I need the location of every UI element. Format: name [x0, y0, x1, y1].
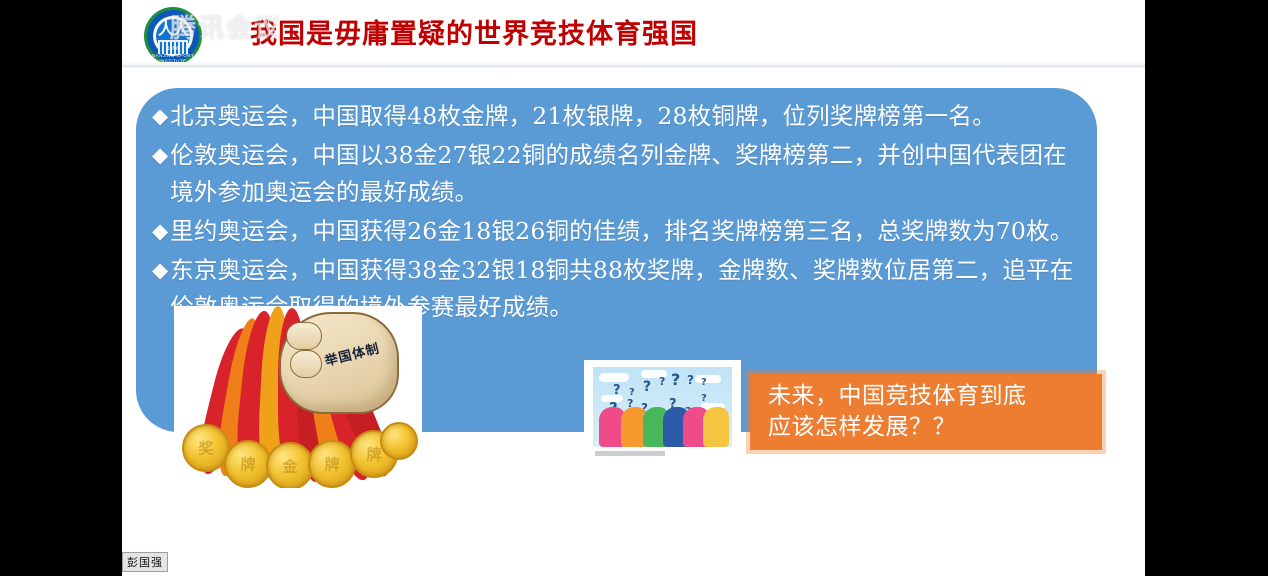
gold-medal — [380, 422, 418, 460]
question-mark-icon: ? — [659, 375, 665, 388]
knuckle — [286, 322, 322, 350]
question-mark-icon: ? — [643, 379, 651, 395]
diamond-bullet-icon: ◆ — [152, 213, 168, 250]
knuckle — [290, 350, 322, 378]
callout-line-2: 应该怎样发展？？ — [768, 412, 1092, 443]
question-mark-icon: ? — [687, 373, 694, 387]
list-item-text: 北京奥运会，中国取得48枚金牌，21枚银牌，28枚铜牌，位列奖牌榜第一名。 — [170, 98, 1085, 135]
nanjing-sport-institute-logo-icon: 人人 1956 NANJING SPORT INSTITUTE — [144, 7, 202, 65]
question-mark-icon: ? — [701, 377, 707, 388]
head-silhouette — [703, 407, 729, 447]
screen: 人人 1956 NANJING SPORT INSTITUTE 我国是毋庸置疑的… — [0, 0, 1268, 576]
logo-mark: 人人 — [158, 23, 188, 38]
gold-medal: 牌 — [308, 440, 356, 488]
question-callout: 未来，中国竞技体育到底 应该怎样发展？？ — [750, 374, 1102, 450]
list-item-text: 里约奥运会，中国获得26金18银26铜的佳绩，排名奖牌榜第三名，总奖牌数为70枚… — [170, 213, 1085, 250]
gold-medal: 金 — [266, 442, 314, 488]
diamond-bullet-icon: ◆ — [152, 98, 168, 135]
gold-medal: 牌 — [224, 440, 272, 488]
olympic-results-list: ◆ 北京奥运会，中国取得48枚金牌，21枚银牌，28枚铜牌，位列奖牌榜第一名。 … — [152, 98, 1085, 328]
logo-year: 1956 — [144, 46, 202, 52]
thinking-heads-image: ? ? ? ? ? ? ? ? ? ? ? ? ? ? — [584, 360, 741, 460]
author-name-tag: 彭国强 — [122, 552, 168, 572]
gold-medal: 奖 — [182, 424, 230, 472]
image-caption-bar — [595, 451, 665, 456]
presentation-slide: 人人 1956 NANJING SPORT INSTITUTE 我国是毋庸置疑的… — [122, 0, 1145, 576]
list-item: ◆ 伦敦奥运会，中国以38金27银22铜的成绩名列金牌、奖牌榜第二，并创中国代表… — [152, 137, 1085, 211]
letterbox-bar-right — [1145, 0, 1268, 576]
list-item-text: 伦敦奥运会，中国以38金27银22铜的成绩名列金牌、奖牌榜第二，并创中国代表团在… — [170, 137, 1085, 211]
list-item: ◆ 北京奥运会，中国取得48枚金牌，21枚银牌，28枚铜牌，位列奖牌榜第一名。 — [152, 98, 1085, 135]
header-divider — [122, 62, 1145, 68]
diamond-bullet-icon: ◆ — [152, 252, 168, 289]
slide-header: 人人 1956 NANJING SPORT INSTITUTE 我国是毋庸置疑的… — [122, 0, 1145, 66]
page-title: 我国是毋庸置疑的世界竞技体育强国 — [250, 12, 698, 51]
letterbox-bar-left — [0, 0, 122, 576]
fist-with-gold-medals-image: 举国体制 奖 牌 金 牌 牌 — [174, 306, 422, 488]
callout-line-1: 未来，中国竞技体育到底 — [768, 381, 1092, 412]
diamond-bullet-icon: ◆ — [152, 137, 168, 174]
question-mark-icon: ? — [671, 370, 680, 389]
question-mark-icon: ? — [613, 383, 621, 398]
list-item: ◆ 里约奥运会，中国获得26金18银26铜的佳绩，排名奖牌榜第三名，总奖牌数为7… — [152, 213, 1085, 250]
question-mark-icon: ? — [701, 393, 707, 404]
